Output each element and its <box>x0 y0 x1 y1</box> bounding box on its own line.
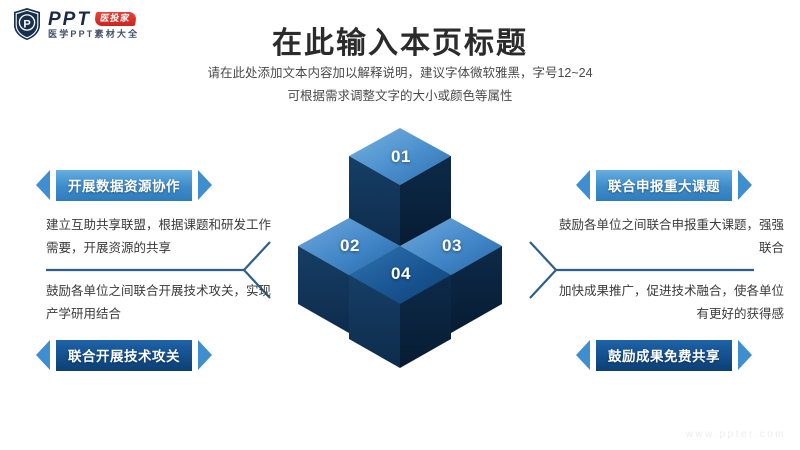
arrow-left-icon-03 <box>576 170 590 200</box>
footer-watermark: www.ppter.com <box>686 429 786 440</box>
body-text-03: 鼓励各单位之间联合申报重大课题，强强联合 <box>552 214 784 260</box>
page-subtitle: 请在此处添加文本内容加以解释说明，建议字体微软雅黑，字号12~24 可根据需求调… <box>0 62 800 108</box>
isometric-cube-diagram: 01 02 03 04 <box>298 128 502 368</box>
arrow-left-icon-02 <box>36 340 50 370</box>
banner-label-04[interactable]: 鼓励成果免费共享 <box>596 340 732 371</box>
body-text-01: 建立互助共享联盟，根据课题和研发工作需要，开展资源的共享 <box>46 214 278 260</box>
banner-label-01[interactable]: 开展数据资源协作 <box>56 170 192 201</box>
arrow-right-icon-03 <box>738 170 752 200</box>
banner-row-02[interactable]: 联合开展技术攻关 <box>36 340 212 370</box>
subtitle-line-1: 请在此处添加文本内容加以解释说明，建议字体微软雅黑，字号12~24 <box>0 62 800 85</box>
banner-label-02[interactable]: 联合开展技术攻关 <box>56 340 192 371</box>
subtitle-line-2: 可根据需求调整文字的大小或颜色等属性 <box>0 85 800 108</box>
arrow-right-icon-04 <box>738 340 752 370</box>
body-text-04: 加快成果推广，促进技术融合，使各单位有更好的获得感 <box>552 280 784 326</box>
banner-row-01[interactable]: 开展数据资源协作 <box>36 170 212 200</box>
cube-label-01: 01 <box>391 147 411 167</box>
banner-label-03[interactable]: 联合申报重大课题 <box>596 170 732 201</box>
arrow-left-icon-04 <box>576 340 590 370</box>
body-text-02: 鼓励各单位之间联合开展技术攻关，实现产学研用结合 <box>46 280 278 326</box>
cube-label-02: 02 <box>340 236 360 256</box>
banner-row-03[interactable]: 联合申报重大课题 <box>576 170 752 200</box>
cube-label-03: 03 <box>442 236 462 256</box>
arrow-left-icon-01 <box>36 170 50 200</box>
cube-label-04: 04 <box>391 264 411 284</box>
banner-row-04[interactable]: 鼓励成果免费共享 <box>576 340 752 370</box>
page-title: 在此输入本页标题 <box>0 18 800 62</box>
arrow-right-icon-01 <box>198 170 212 200</box>
arrow-right-icon-02 <box>198 340 212 370</box>
